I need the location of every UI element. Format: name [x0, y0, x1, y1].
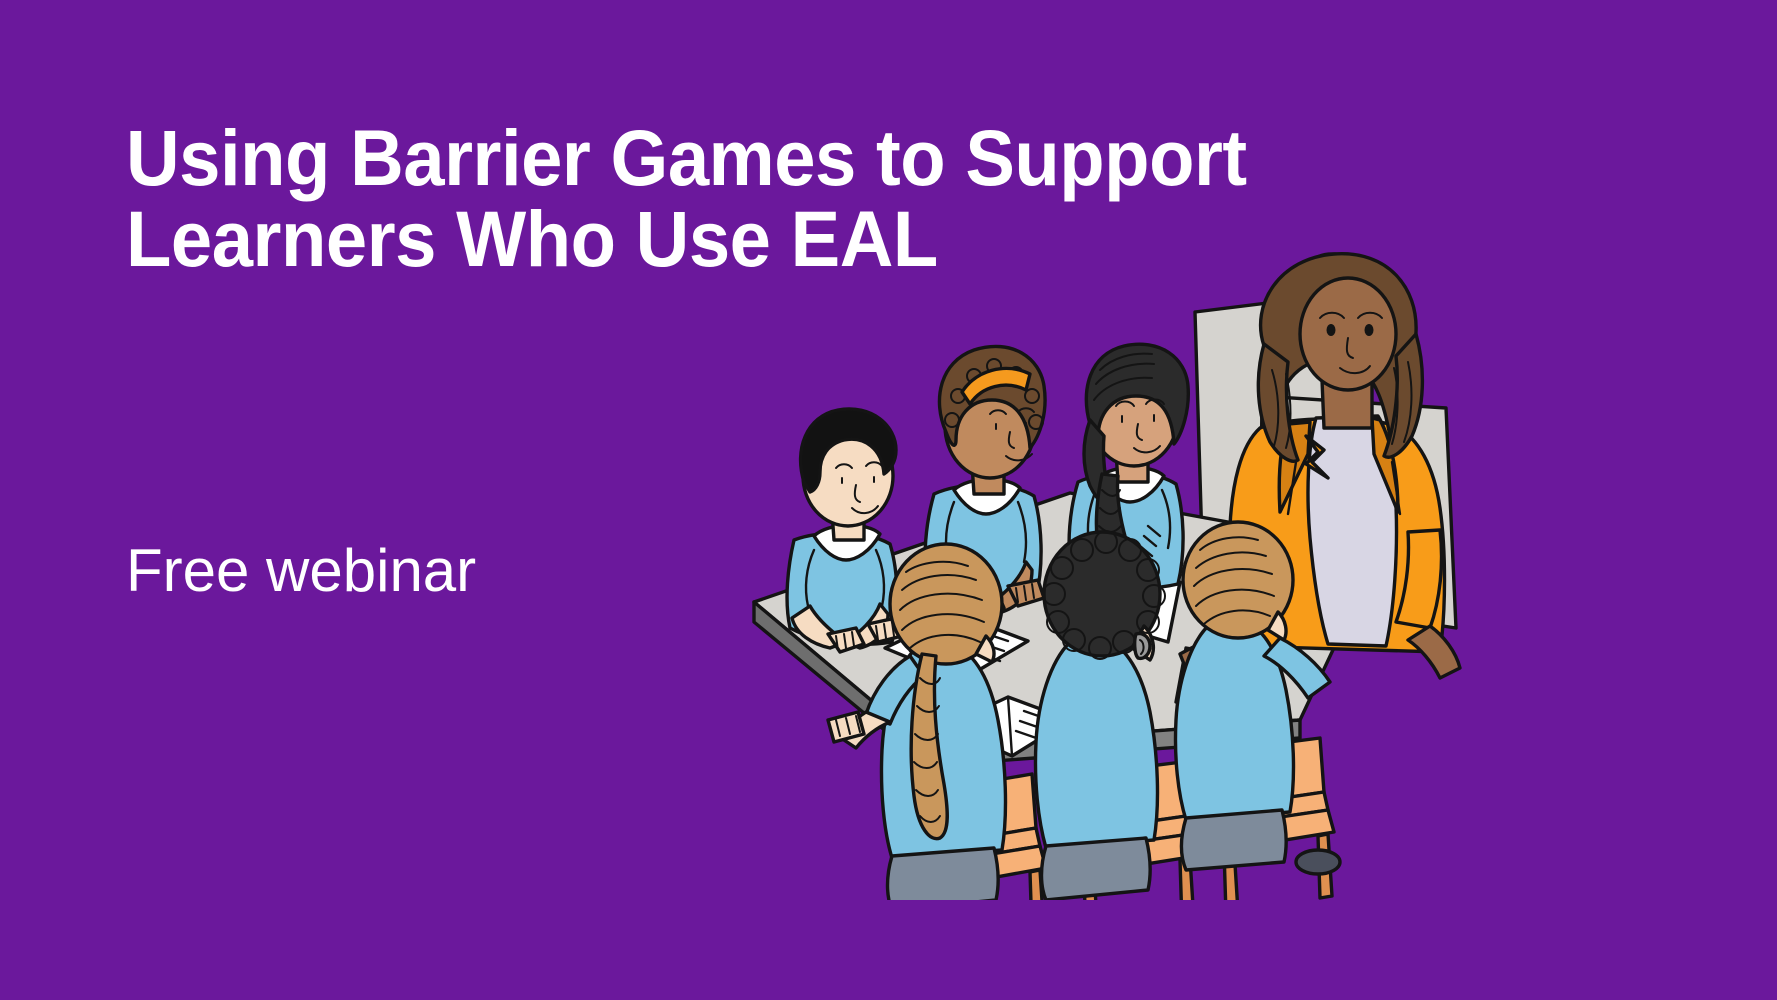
- pupil-left-black-hair: [787, 409, 902, 652]
- subtitle-free-webinar: Free webinar: [126, 538, 476, 604]
- webinar-promo-banner: Using Barrier Games to Support Learners …: [0, 0, 1777, 1000]
- pupil-shoe: [1296, 850, 1340, 874]
- hearing-aid-icon: [1135, 634, 1150, 659]
- pupil-back-dark-curls-hearing-aid: [1035, 531, 1165, 900]
- classroom-illustration-svg: .ol { stroke:#141414; stroke-width:3.4; …: [740, 250, 1500, 900]
- classroom-group-illustration: .ol { stroke:#141414; stroke-width:3.4; …: [740, 250, 1500, 900]
